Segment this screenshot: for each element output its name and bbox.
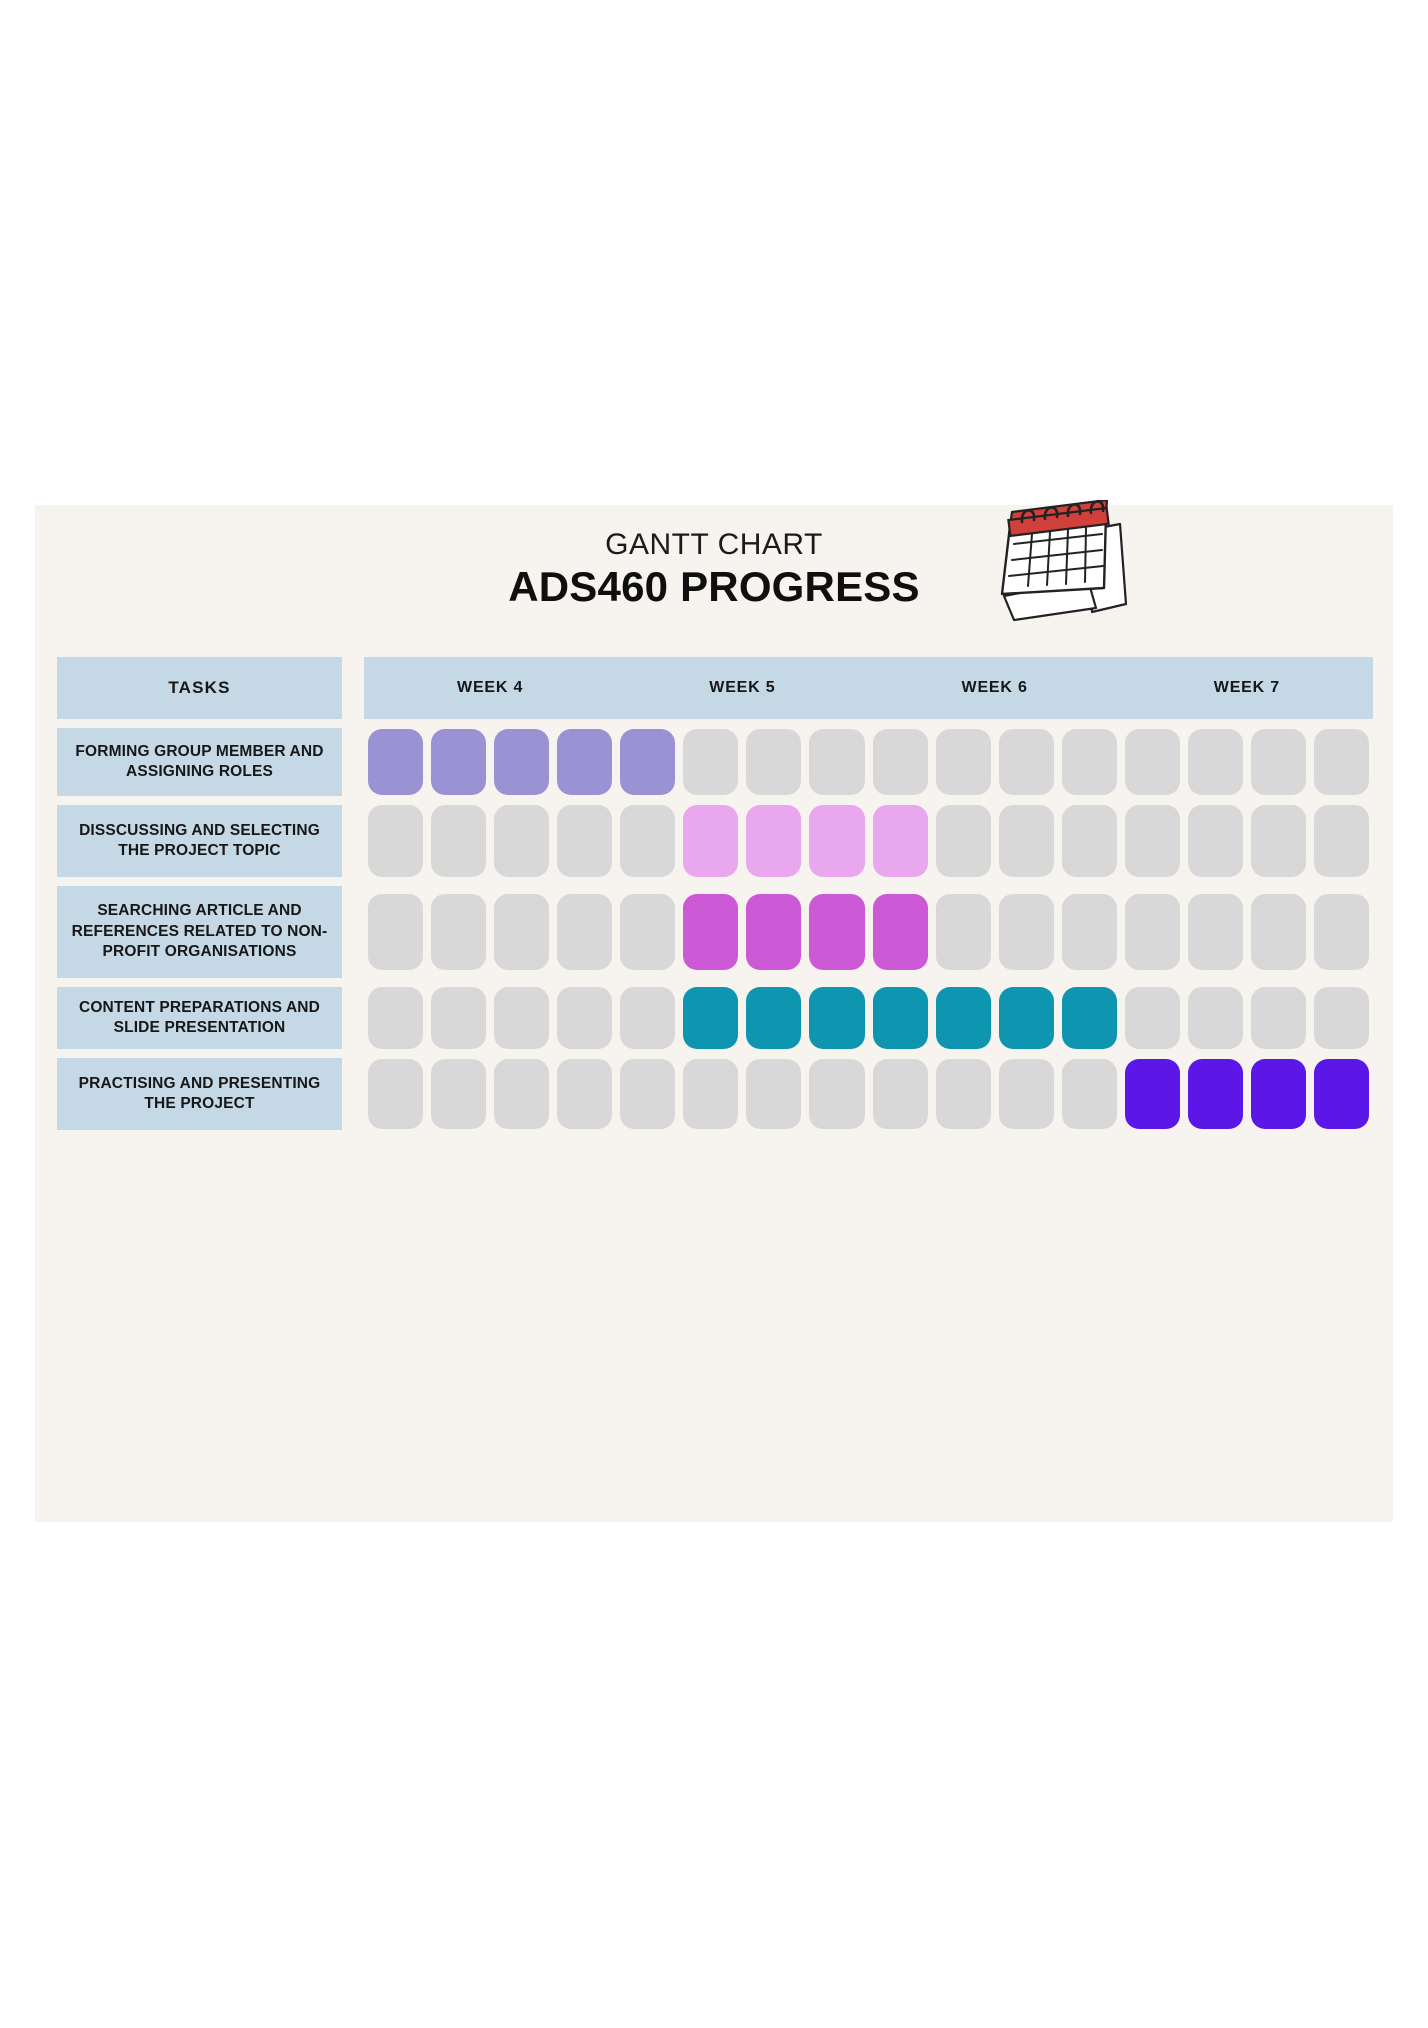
tasks-column-header: TASKS	[57, 657, 342, 719]
gantt-cell-filled[interactable]	[873, 987, 928, 1049]
gantt-cell-empty[interactable]	[431, 1059, 486, 1129]
gantt-cell-filled[interactable]	[557, 729, 612, 795]
gantt-cell-empty[interactable]	[1062, 894, 1117, 970]
gantt-cell-filled[interactable]	[683, 894, 738, 970]
task-timeline	[364, 987, 1373, 1049]
gantt-cell-empty[interactable]	[1062, 1059, 1117, 1129]
gantt-chart-canvas: GANTT CHART ADS460 PROGRESS	[35, 505, 1393, 1522]
gantt-cell-empty[interactable]	[1125, 729, 1180, 795]
gantt-cell-empty[interactable]	[936, 729, 991, 795]
gantt-cell-empty[interactable]	[873, 729, 928, 795]
gantt-cell-empty[interactable]	[494, 805, 549, 877]
gantt-cell-empty[interactable]	[809, 1059, 864, 1129]
gantt-cell-filled[interactable]	[620, 729, 675, 795]
gantt-cell-empty[interactable]	[620, 805, 675, 877]
gantt-cell-filled[interactable]	[936, 987, 991, 1049]
gantt-cell-filled[interactable]	[1062, 987, 1117, 1049]
gantt-cell-filled[interactable]	[1125, 1059, 1180, 1129]
gantt-cell-empty[interactable]	[368, 987, 423, 1049]
gantt-cell-filled[interactable]	[809, 987, 864, 1049]
gantt-cell-empty[interactable]	[557, 1059, 612, 1129]
week-header-2: WEEK 5	[616, 657, 868, 719]
gantt-cell-empty[interactable]	[494, 987, 549, 1049]
gantt-cell-empty[interactable]	[936, 805, 991, 877]
gantt-grid: TASKS WEEK 4 WEEK 5 WEEK 6 WEEK 7 FORMIN…	[57, 657, 1373, 1139]
gantt-cell-empty[interactable]	[431, 894, 486, 970]
gantt-cell-empty[interactable]	[368, 805, 423, 877]
gantt-cell-empty[interactable]	[1314, 729, 1369, 795]
gantt-cell-empty[interactable]	[1188, 987, 1243, 1049]
gantt-cell-filled[interactable]	[809, 805, 864, 877]
gantt-cell-empty[interactable]	[1125, 894, 1180, 970]
task-label: DISSCUSSING AND SELECTING THE PROJECT TO…	[57, 805, 342, 877]
task-label: PRACTISING AND PRESENTING THE PROJECT	[57, 1058, 342, 1130]
weeks-header: WEEK 4 WEEK 5 WEEK 6 WEEK 7	[364, 657, 1373, 719]
week-header-3: WEEK 6	[869, 657, 1121, 719]
gantt-cell-empty[interactable]	[1251, 729, 1306, 795]
desk-calendar-icon	[992, 500, 1132, 625]
gantt-cell-filled[interactable]	[746, 894, 801, 970]
task-label: CONTENT PREPARATIONS AND SLIDE PRESENTAT…	[57, 987, 342, 1049]
page-title: ADS460 PROGRESS	[35, 563, 1393, 611]
gantt-cell-empty[interactable]	[368, 894, 423, 970]
gantt-cell-filled[interactable]	[873, 894, 928, 970]
gantt-cell-empty[interactable]	[494, 894, 549, 970]
task-label: FORMING GROUP MEMBER AND ASSIGNING ROLES	[57, 728, 342, 796]
gantt-cell-empty[interactable]	[1251, 987, 1306, 1049]
gantt-cell-empty[interactable]	[1125, 987, 1180, 1049]
table-row: FORMING GROUP MEMBER AND ASSIGNING ROLES	[57, 728, 1373, 796]
gantt-cell-empty[interactable]	[620, 1059, 675, 1129]
gantt-cell-empty[interactable]	[1251, 894, 1306, 970]
gantt-cell-filled[interactable]	[809, 894, 864, 970]
gantt-cell-empty[interactable]	[1188, 894, 1243, 970]
table-row: PRACTISING AND PRESENTING THE PROJECT	[57, 1058, 1373, 1130]
gantt-cell-filled[interactable]	[873, 805, 928, 877]
gantt-cell-empty[interactable]	[873, 1059, 928, 1129]
gantt-cell-empty[interactable]	[494, 1059, 549, 1129]
gantt-rows: FORMING GROUP MEMBER AND ASSIGNING ROLES…	[57, 728, 1373, 1130]
gantt-cell-filled[interactable]	[494, 729, 549, 795]
chart-title-block: GANTT CHART ADS460 PROGRESS	[35, 529, 1393, 611]
gantt-cell-empty[interactable]	[999, 805, 1054, 877]
gantt-cell-empty[interactable]	[999, 729, 1054, 795]
chart-subtitle: GANTT CHART	[35, 529, 1393, 561]
gantt-cell-empty[interactable]	[1188, 805, 1243, 877]
gantt-cell-empty[interactable]	[1314, 987, 1369, 1049]
gantt-cell-filled[interactable]	[683, 805, 738, 877]
gantt-cell-filled[interactable]	[683, 987, 738, 1049]
gantt-cell-empty[interactable]	[936, 894, 991, 970]
gantt-cell-filled[interactable]	[1188, 1059, 1243, 1129]
task-timeline	[364, 728, 1373, 796]
gantt-cell-empty[interactable]	[431, 987, 486, 1049]
gantt-cell-empty[interactable]	[1062, 729, 1117, 795]
gantt-cell-empty[interactable]	[620, 894, 675, 970]
gantt-cell-empty[interactable]	[620, 987, 675, 1049]
gantt-cell-empty[interactable]	[431, 805, 486, 877]
task-timeline	[364, 1058, 1373, 1130]
gantt-cell-empty[interactable]	[1062, 805, 1117, 877]
gantt-cell-empty[interactable]	[368, 1059, 423, 1129]
gantt-cell-empty[interactable]	[936, 1059, 991, 1129]
gantt-cell-empty[interactable]	[1125, 805, 1180, 877]
gantt-cell-filled[interactable]	[999, 987, 1054, 1049]
gantt-cell-filled[interactable]	[368, 729, 423, 795]
gantt-cell-empty[interactable]	[1314, 894, 1369, 970]
table-row: CONTENT PREPARATIONS AND SLIDE PRESENTAT…	[57, 987, 1373, 1049]
gantt-cell-empty[interactable]	[557, 894, 612, 970]
gantt-cell-empty[interactable]	[999, 894, 1054, 970]
grid-header-row: TASKS WEEK 4 WEEK 5 WEEK 6 WEEK 7	[57, 657, 1373, 719]
gantt-cell-empty[interactable]	[1188, 729, 1243, 795]
week-header-4: WEEK 7	[1121, 657, 1373, 719]
gantt-cell-empty[interactable]	[683, 1059, 738, 1129]
gantt-cell-filled[interactable]	[431, 729, 486, 795]
gantt-cell-filled[interactable]	[746, 987, 801, 1049]
gantt-cell-empty[interactable]	[746, 729, 801, 795]
gantt-cell-empty[interactable]	[1314, 805, 1369, 877]
gantt-cell-filled[interactable]	[1314, 1059, 1369, 1129]
gantt-cell-empty[interactable]	[683, 729, 738, 795]
gantt-cell-empty[interactable]	[999, 1059, 1054, 1129]
gantt-cell-filled[interactable]	[1251, 1059, 1306, 1129]
gantt-cell-empty[interactable]	[557, 987, 612, 1049]
gantt-cell-empty[interactable]	[746, 1059, 801, 1129]
table-row: SEARCHING ARTICLE AND REFERENCES RELATED…	[57, 886, 1373, 978]
table-row: DISSCUSSING AND SELECTING THE PROJECT TO…	[57, 805, 1373, 877]
gantt-cell-empty[interactable]	[1251, 805, 1306, 877]
task-label: SEARCHING ARTICLE AND REFERENCES RELATED…	[57, 886, 342, 978]
gantt-cell-filled[interactable]	[746, 805, 801, 877]
week-header-1: WEEK 4	[364, 657, 616, 719]
gantt-cell-empty[interactable]	[809, 729, 864, 795]
task-timeline	[364, 886, 1373, 978]
gantt-cell-empty[interactable]	[557, 805, 612, 877]
task-timeline	[364, 805, 1373, 877]
